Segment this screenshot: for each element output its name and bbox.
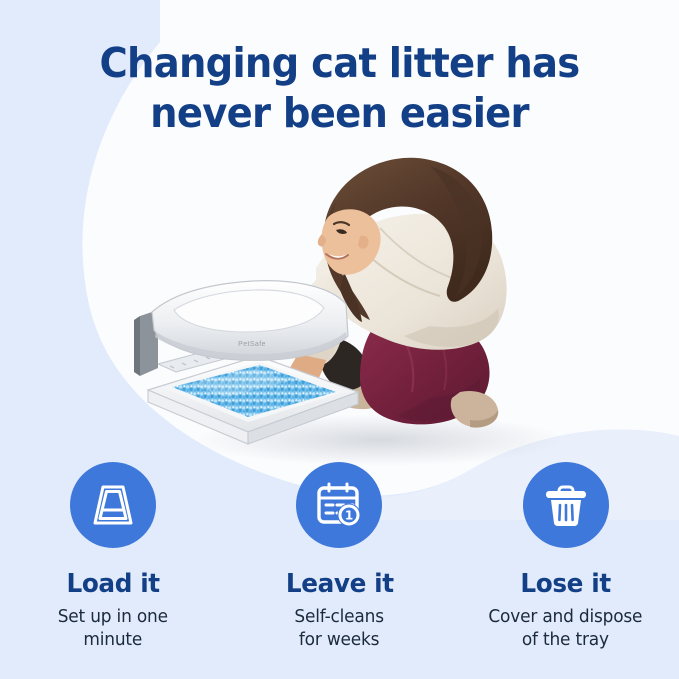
feature-subtitle-load-line1: Set up in one — [58, 607, 168, 627]
feature-subtitle-load-line2: minute — [84, 630, 143, 650]
trash-handle — [559, 487, 573, 491]
feature-subtitle-lose: Cover and dispose of the tray — [489, 606, 643, 653]
feature-title-load: Load it — [67, 570, 160, 599]
day-badge-number: 1 — [345, 509, 353, 523]
product-photo: PetSafe — [130, 140, 560, 470]
feature-subtitle-leave-line2: for weeks — [299, 630, 379, 650]
feature-subtitle-load: Set up in one minute — [58, 606, 168, 653]
feature-title-leave: Leave it — [286, 570, 394, 599]
headline-line-2: never been easier — [20, 88, 658, 138]
feature-row: Load it Set up in one minute — [0, 462, 679, 653]
promo-poster: Changing cat litter has never been easie… — [0, 0, 679, 679]
feature-lose-it[interactable]: Lose it Cover and dispose of the tray — [453, 462, 679, 653]
headline-line-1: Changing cat litter has — [20, 38, 658, 88]
calendar-one-icon[interactable]: 1 — [296, 462, 382, 548]
feature-subtitle-lose-line2: of the tray — [522, 630, 609, 650]
feature-subtitle-leave: Self-cleans for weeks — [295, 606, 384, 653]
litter-tray-icon[interactable] — [70, 462, 156, 548]
tray-inner-trapezoid — [100, 492, 126, 519]
brand-label: PetSafe — [238, 341, 266, 348]
feature-leave-it[interactable]: 1 Leave it Self-cleans for weeks — [226, 462, 452, 653]
hood-left-panel-dark — [134, 316, 140, 376]
trash-lid — [546, 491, 586, 498]
feature-subtitle-leave-line1: Self-cleans — [295, 607, 384, 627]
feature-title-lose: Lose it — [521, 570, 611, 599]
page-title: Changing cat litter has never been easie… — [20, 38, 658, 138]
feature-subtitle-lose-line1: Cover and dispose — [489, 607, 643, 627]
feature-load-it[interactable]: Load it Set up in one minute — [0, 462, 226, 653]
trash-can-icon[interactable] — [523, 462, 609, 548]
